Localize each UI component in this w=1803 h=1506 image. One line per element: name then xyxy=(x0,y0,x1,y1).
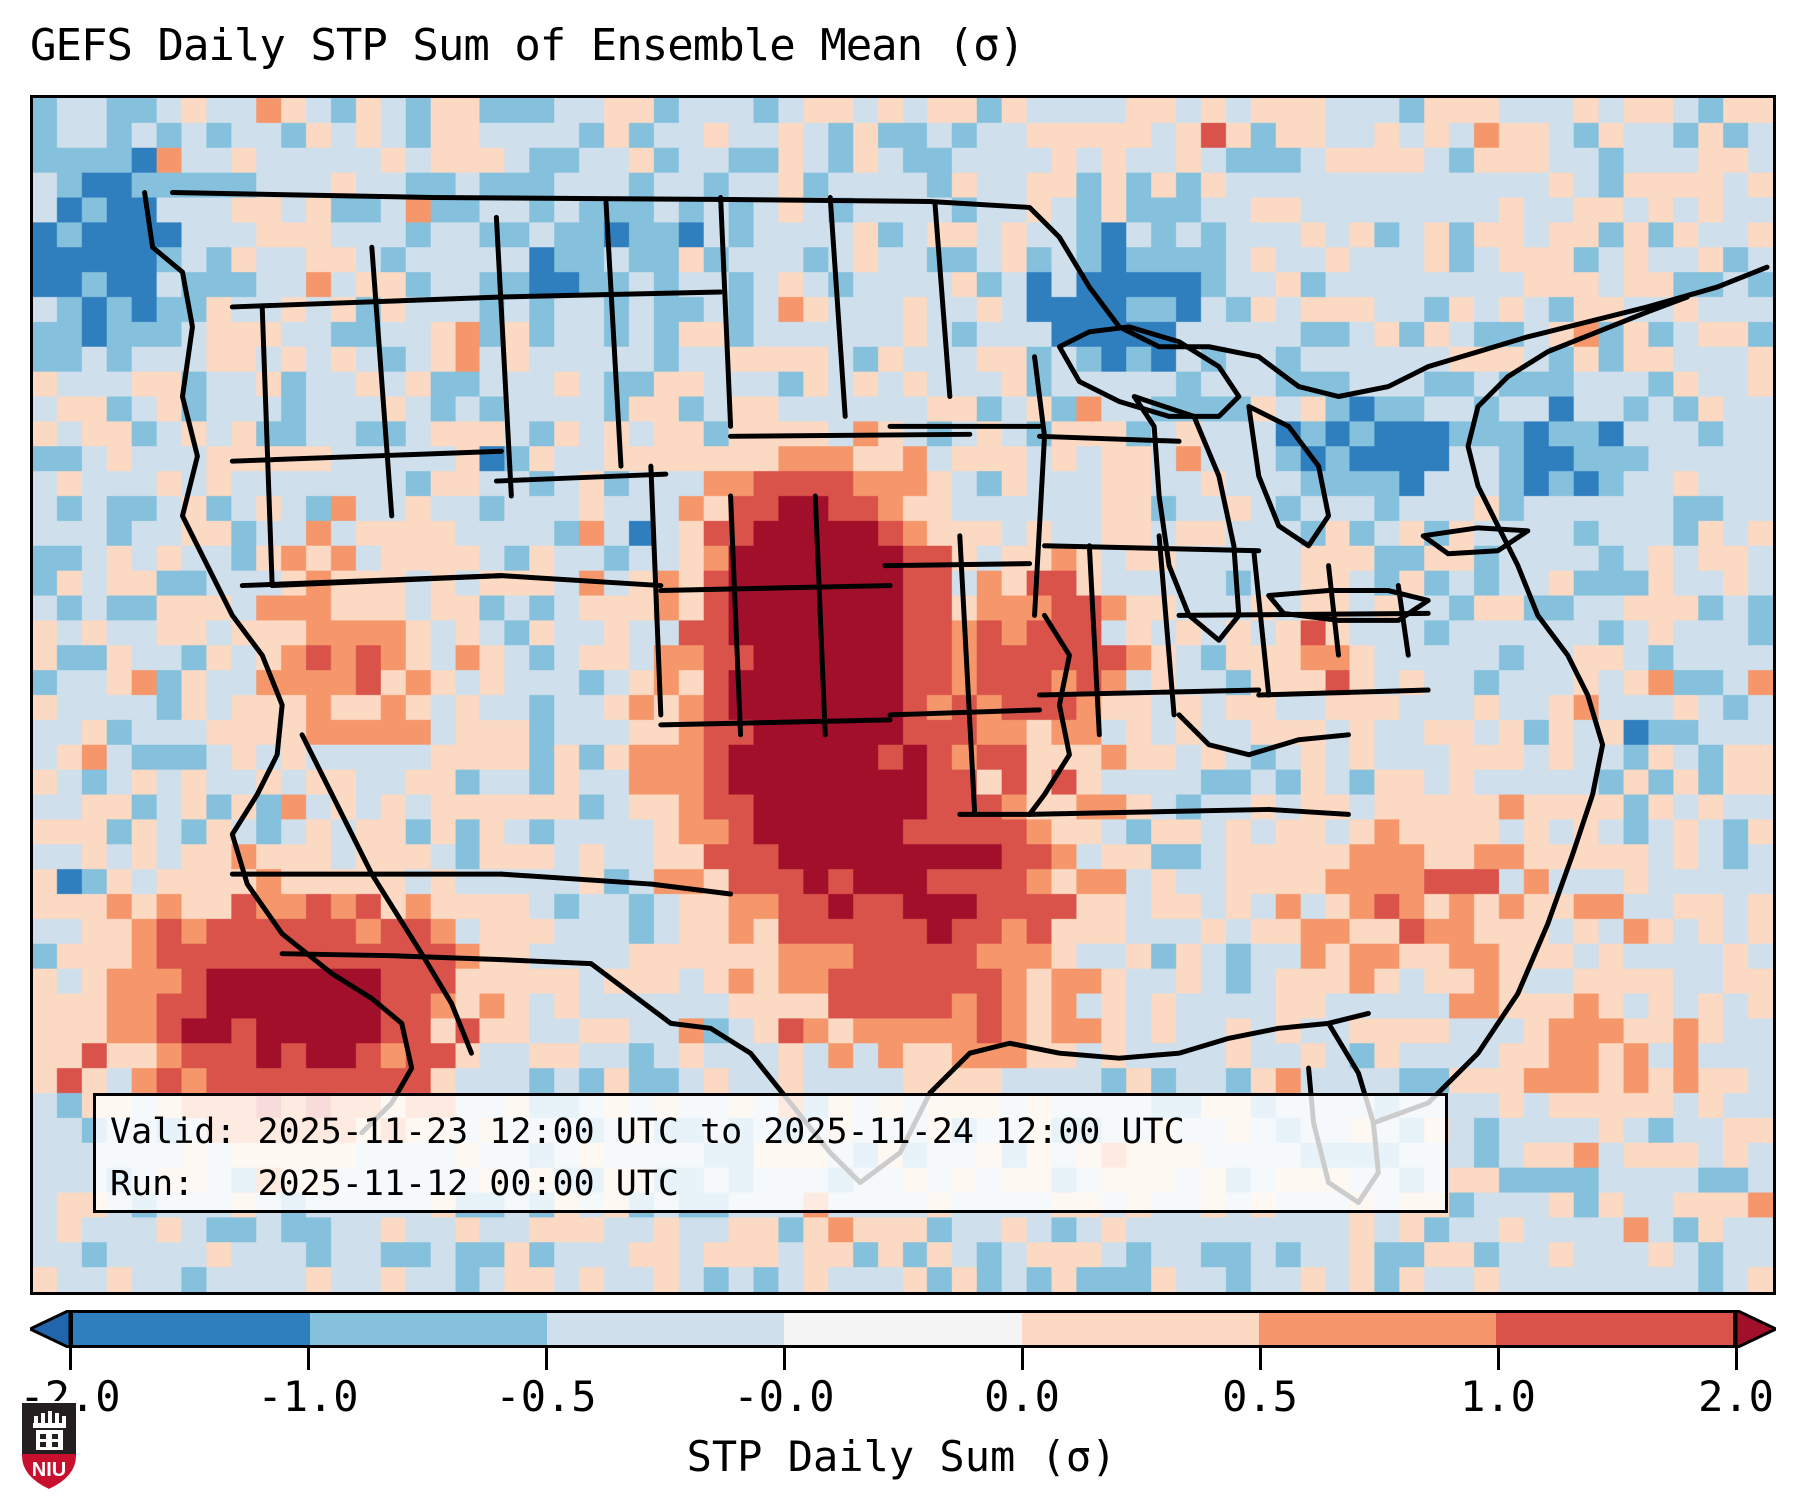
colorbar-axis-label: STP Daily Sum (σ) xyxy=(0,1432,1803,1481)
colorbar-gradient[interactable] xyxy=(70,1310,1736,1348)
colorbar-segment-1 xyxy=(310,1313,547,1345)
map-plot-area: Valid: 2025-11-23 12:00 UTC to 2025-11-2… xyxy=(30,95,1776,1295)
logo-text: NIU xyxy=(32,1459,66,1481)
colorbar-segment-0 xyxy=(73,1313,310,1345)
colorbar-extend-high-arrow xyxy=(1736,1310,1776,1348)
colorbar-tick-7 xyxy=(1735,1348,1738,1370)
colorbar-segment-5 xyxy=(1259,1313,1496,1345)
page-title: GEFS Daily STP Sum of Ensemble Mean (σ) xyxy=(30,20,1780,71)
colorbar-segment-4 xyxy=(1022,1313,1259,1345)
colorbar-extend-low-arrow xyxy=(30,1310,70,1348)
colorbar-segment-3 xyxy=(784,1313,1021,1345)
colorbar-tick-2 xyxy=(545,1348,548,1370)
colorbar-tick-label-2: -0.5 xyxy=(495,1372,596,1421)
colorbar-tick-label-3: -0.0 xyxy=(733,1372,834,1421)
colorbar-tick-6 xyxy=(1497,1348,1500,1370)
niu-shield-logo: NIU xyxy=(18,1400,80,1492)
colorbar-tick-labels: -2.0-1.0-0.5-0.00.00.51.02.0 xyxy=(30,1372,1776,1426)
colorbar-tick-0 xyxy=(69,1348,72,1370)
colorbar-tick-5 xyxy=(1259,1348,1262,1370)
colorbar-tick-3 xyxy=(783,1348,786,1370)
model-run-text: Run: 2025-11-12 00:00 UTC xyxy=(110,1158,1431,1210)
colorbar-ticks xyxy=(30,1348,1776,1374)
colorbar-tick-label-5: 0.5 xyxy=(1222,1372,1298,1421)
colorbar-tick-label-4: 0.0 xyxy=(984,1372,1060,1421)
colorbar-tick-label-6: 1.0 xyxy=(1460,1372,1536,1421)
colorbar-tick-1 xyxy=(307,1348,310,1370)
forecast-info-box: Valid: 2025-11-23 12:00 UTC to 2025-11-2… xyxy=(93,1093,1448,1213)
colorbar-segment-2 xyxy=(547,1313,784,1345)
colorbar-tick-label-1: -1.0 xyxy=(257,1372,358,1421)
colorbar-tick-label-7: 2.0 xyxy=(1698,1372,1774,1421)
valid-period-text: Valid: 2025-11-23 12:00 UTC to 2025-11-2… xyxy=(110,1106,1431,1158)
colorbar-tick-4 xyxy=(1021,1348,1024,1370)
colorbar-segment-6 xyxy=(1496,1313,1733,1345)
